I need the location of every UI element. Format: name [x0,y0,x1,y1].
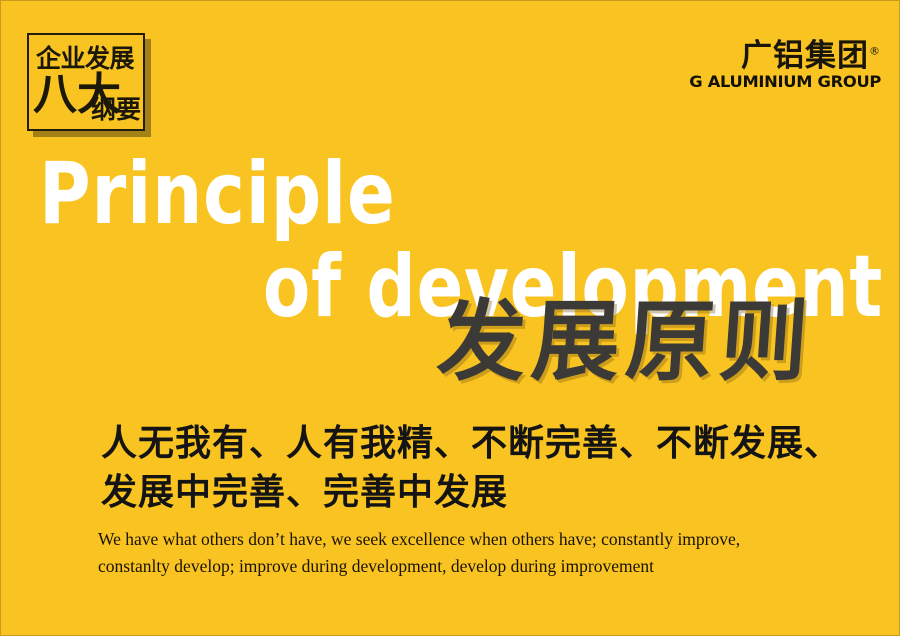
logo-english-name: G ALUMINIUM GROUP [689,74,881,90]
headline-line-principle: Principle [39,151,396,237]
logo-chinese-text: 广铝集团 [741,38,869,74]
english-slogan-line: constanlty develop; improve during devel… [98,553,888,580]
company-logo: 广铝集团® G ALUMINIUM GROUP [693,41,881,90]
registered-trademark-icon: ® [869,45,881,58]
corporate-outline-stamp: 企业发展 八大 纲要 [27,33,145,131]
english-slogan-line: We have what others don’t have, we seek … [98,526,888,553]
logo-chinese-name: 广铝集团® [741,41,881,72]
stamp-line-outline: 纲要 [91,97,141,122]
chinese-slogan-block: 人无我有、人有我精、不断完善、不断发展、 发展中完善、完善中发展 [101,419,871,517]
headline-chinese-development-principle: 发展原则 [435,297,817,385]
english-slogan-block: We have what others don’t have, we seek … [98,526,888,580]
poster-canvas: 企业发展 八大 纲要 广铝集团® G ALUMINIUM GROUP Princ… [0,0,900,636]
chinese-slogan-line: 人无我有、人有我精、不断完善、不断发展、 [101,419,871,468]
chinese-slogan-line: 发展中完善、完善中发展 [101,468,871,517]
